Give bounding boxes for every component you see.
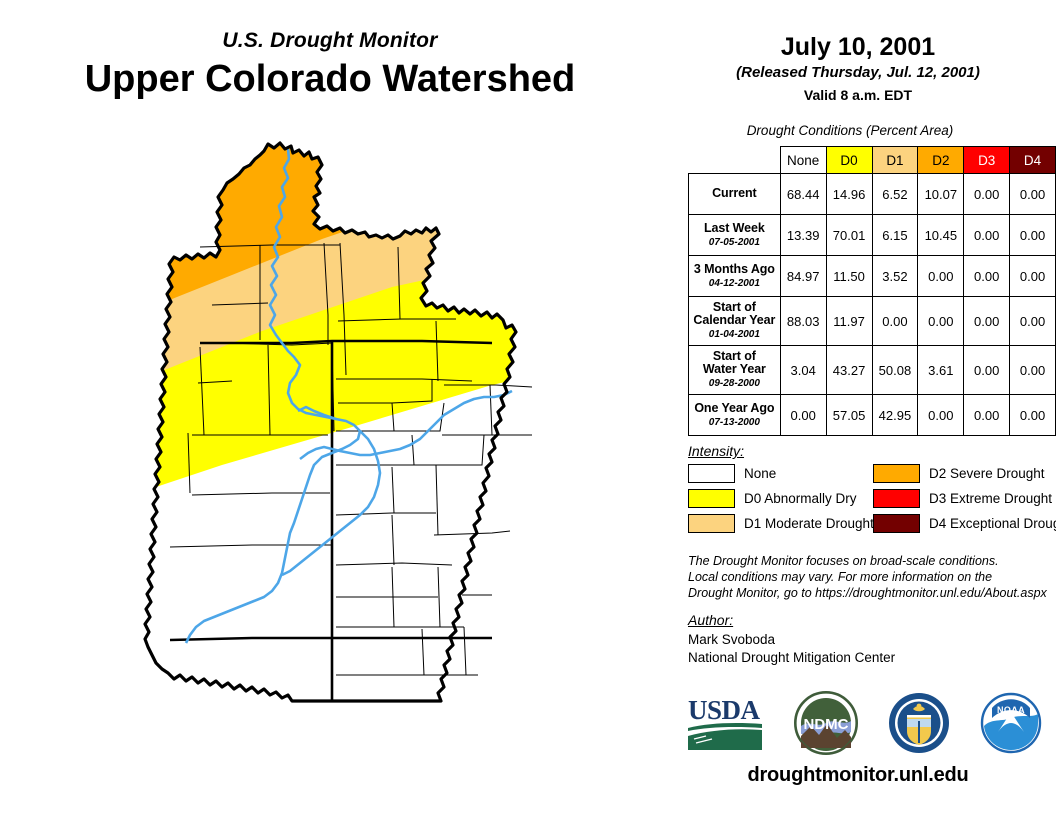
table-row: Start ofWater Year 09-28-2000 3.04 43.27… (689, 346, 1056, 395)
table-row: 3 Months Ago 04-12-2001 84.97 11.50 3.52… (689, 256, 1056, 297)
cell-d2: 10.45 (918, 215, 964, 256)
legend-swatch-d0 (688, 489, 735, 508)
disclaimer-line-3: Drought Monitor, go to https://droughtmo… (688, 585, 1056, 601)
cell-none: 13.39 (780, 215, 826, 256)
legend-swatch-d2 (873, 464, 920, 483)
row-label-last-week: Last Week 07-05-2001 (689, 215, 781, 256)
table-row: Last Week 07-05-2001 13.39 70.01 6.15 10… (689, 215, 1056, 256)
legend-label-d4: D4 Exceptional Drought (929, 516, 1056, 531)
row-label-name: One Year Ago (692, 402, 777, 415)
legend-swatch-d3 (873, 489, 920, 508)
cell-d0: 11.50 (826, 256, 872, 297)
row-label-date: 07-05-2001 (692, 236, 777, 249)
drought-conditions-table: None D0 D1 D2 D3 D4 Current 68.44 14.96 … (688, 146, 1056, 436)
column-header-d4: D4 (1010, 147, 1056, 174)
cell-d1: 42.95 (872, 395, 918, 436)
valid-time: Valid 8 a.m. EDT (660, 86, 1056, 104)
column-header-d1: D1 (872, 147, 918, 174)
row-label-name: 3 Months Ago (692, 263, 777, 276)
cell-d0: 70.01 (826, 215, 872, 256)
cell-d0: 43.27 (826, 346, 872, 395)
row-label-name: Last Week (692, 222, 777, 235)
release-date: (Released Thursday, Jul. 12, 2001) (660, 63, 1056, 83)
legend-label-d0: D0 Abnormally Dry (744, 491, 857, 506)
cell-d1: 6.15 (872, 215, 918, 256)
cell-d3: 0.00 (964, 215, 1010, 256)
legend-label-d1: D1 Moderate Drought (744, 516, 874, 531)
table-row: Start ofCalendar Year 01-04-2001 88.03 1… (689, 297, 1056, 346)
cell-d0: 57.05 (826, 395, 872, 436)
row-label-start-of-calendar-year: Start ofCalendar Year 01-04-2001 (689, 297, 781, 346)
intensity-legend-title: Intensity: (688, 443, 1056, 459)
cell-d3: 0.00 (964, 297, 1010, 346)
legend-label-d2: D2 Severe Drought (929, 466, 1045, 481)
row-label-current: Current (689, 174, 781, 215)
table-row: One Year Ago 07-13-2000 0.00 57.05 42.95… (689, 395, 1056, 436)
cell-d4: 0.00 (1010, 297, 1056, 346)
cell-d4: 0.00 (1010, 215, 1056, 256)
cell-d0: 14.96 (826, 174, 872, 215)
title-block: U.S. Drought Monitor Upper Colorado Wate… (0, 28, 660, 102)
author-organization: National Drought Mitigation Center (688, 649, 1056, 667)
cell-d4: 0.00 (1010, 256, 1056, 297)
table-row: Current 68.44 14.96 6.52 10.07 0.00 0.00 (689, 174, 1056, 215)
legend-swatch-none (688, 464, 735, 483)
row-label-date: 04-12-2001 (692, 277, 777, 290)
legend-item-none: None (688, 464, 873, 483)
intensity-legend: Intensity: None D2 Severe Drought D0 Abn… (688, 443, 1056, 533)
site-url[interactable]: droughtmonitor.unl.edu (660, 764, 1056, 787)
legend-item-d2: D2 Severe Drought (873, 464, 1056, 483)
cell-d2: 0.00 (918, 256, 964, 297)
cell-none: 68.44 (780, 174, 826, 215)
svg-text:NOAA: NOAA (997, 705, 1025, 715)
row-label-name: Current (692, 187, 777, 200)
cell-d0: 11.97 (826, 297, 872, 346)
legend-item-d3: D3 Extreme Drought (873, 489, 1056, 508)
row-label-name: Start ofCalendar Year (692, 301, 777, 327)
program-title: U.S. Drought Monitor (0, 28, 660, 54)
cell-d1: 0.00 (872, 297, 918, 346)
cell-d1: 3.52 (872, 256, 918, 297)
cell-none: 84.97 (780, 256, 826, 297)
row-label-name: Start ofWater Year (692, 350, 777, 376)
svg-text:NDMC: NDMC (803, 716, 848, 733)
cell-none: 3.04 (780, 346, 826, 395)
legend-label-none: None (744, 466, 776, 481)
legend-item-d4: D4 Exceptional Drought (873, 514, 1056, 533)
map-svg (92, 135, 652, 705)
row-label-date: 01-04-2001 (692, 328, 777, 341)
legend-swatch-d4 (873, 514, 920, 533)
drought-map[interactable] (92, 135, 652, 705)
cell-d3: 0.00 (964, 346, 1010, 395)
ndmc-logo: NDMC (793, 690, 859, 761)
row-label-date: 07-13-2000 (692, 416, 777, 429)
legend-label-d3: D3 Extreme Drought (929, 491, 1052, 506)
column-header-d0: D0 (826, 147, 872, 174)
column-header-d2: D2 (918, 147, 964, 174)
map-drought-fills (92, 135, 652, 705)
usdc-seal-logo (887, 691, 951, 760)
table-corner-cell (689, 147, 781, 174)
cell-d3: 0.00 (964, 395, 1010, 436)
table-header-row: None D0 D1 D2 D3 D4 (689, 147, 1056, 174)
disclaimer-text: The Drought Monitor focuses on broad-sca… (688, 553, 1056, 601)
legend-item-d1: D1 Moderate Drought (688, 514, 873, 533)
noaa-logo: NOAA (980, 692, 1042, 759)
table-caption: Drought Conditions (Percent Area) (660, 123, 1040, 138)
cell-d3: 0.00 (964, 256, 1010, 297)
row-label-start-of-water-year: Start ofWater Year 09-28-2000 (689, 346, 781, 395)
cell-d2: 10.07 (918, 174, 964, 215)
column-header-d3: D3 (964, 147, 1010, 174)
author-block: Author: Mark Svoboda National Drought Mi… (688, 612, 1056, 667)
cell-d1: 6.52 (872, 174, 918, 215)
author-label: Author: (688, 612, 1056, 628)
column-header-none: None (780, 147, 826, 174)
usda-logo: USDA (686, 692, 764, 759)
legend-swatch-d1 (688, 514, 735, 533)
cell-d4: 0.00 (1010, 174, 1056, 215)
cell-none: 0.00 (780, 395, 826, 436)
row-label-3-months-ago: 3 Months Ago 04-12-2001 (689, 256, 781, 297)
disclaimer-line-2: Local conditions may vary. For more info… (688, 569, 1056, 585)
cell-none: 88.03 (780, 297, 826, 346)
cell-d3: 0.00 (964, 174, 1010, 215)
cell-d2: 3.61 (918, 346, 964, 395)
cell-d1: 50.08 (872, 346, 918, 395)
author-name: Mark Svoboda (688, 631, 1056, 649)
legend-item-d0: D0 Abnormally Dry (688, 489, 873, 508)
row-label-one-year-ago: One Year Ago 07-13-2000 (689, 395, 781, 436)
disclaimer-line-1: The Drought Monitor focuses on broad-sca… (688, 553, 1056, 569)
row-label-date: 09-28-2000 (692, 377, 777, 390)
cell-d4: 0.00 (1010, 346, 1056, 395)
cell-d2: 0.00 (918, 297, 964, 346)
svg-text:USDA: USDA (688, 695, 761, 725)
cell-d4: 0.00 (1010, 395, 1056, 436)
right-panel: July 10, 2001 (Released Thursday, Jul. 1… (660, 0, 1056, 816)
date-block: July 10, 2001 (Released Thursday, Jul. 1… (660, 32, 1056, 104)
cell-d2: 0.00 (918, 395, 964, 436)
page-title: Upper Colorado Watershed (0, 56, 660, 102)
report-date: July 10, 2001 (660, 32, 1056, 62)
logo-row: USDA NDMC (672, 688, 1056, 762)
